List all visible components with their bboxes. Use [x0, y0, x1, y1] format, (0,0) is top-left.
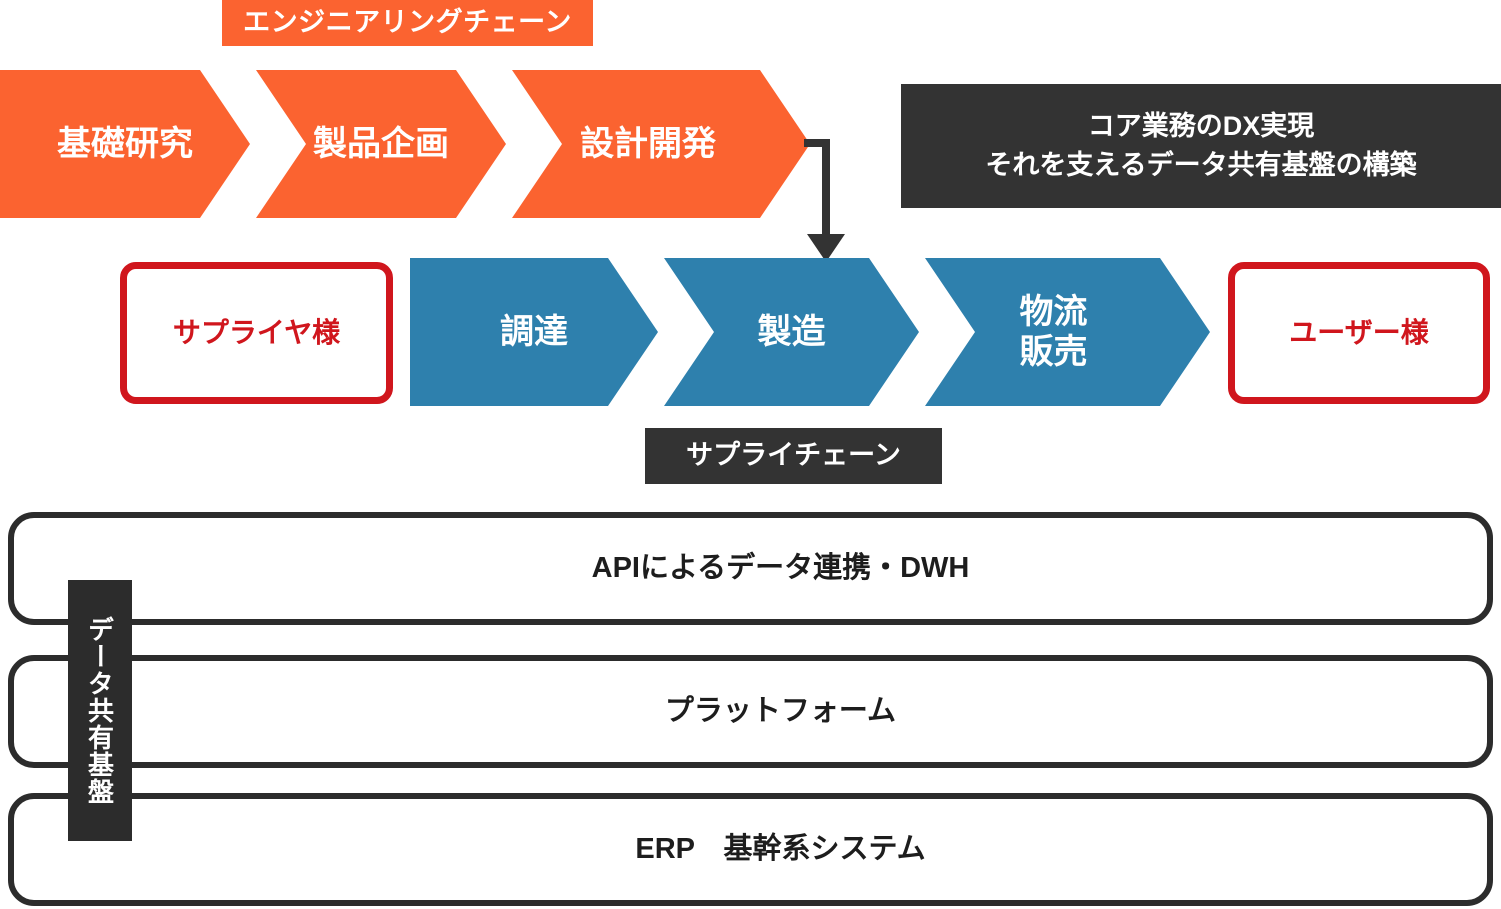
data-foundation-vertical-label: データ共有基盤	[68, 580, 132, 841]
callout-line-1: コア業務のDX実現	[1088, 107, 1315, 146]
user-endpoint-box[interactable]: ユーザー様	[1228, 262, 1490, 404]
supply-step-2-label: 製造	[758, 312, 826, 352]
callout-line-2: それを支えるデータ共有基盤の構築	[985, 146, 1416, 185]
foundation-layer-erp[interactable]: ERP 基幹系システム	[8, 793, 1493, 906]
engineering-step-2[interactable]: 製品企画	[256, 70, 506, 218]
engineering-step-1[interactable]: 基礎研究	[0, 70, 250, 218]
supply-step-1[interactable]: 調達	[410, 258, 658, 406]
engineering-step-3-label: 設計開発	[580, 124, 716, 164]
diagram-canvas: エンジニアリングチェーン 基礎研究 製品企画 設計開発 コア業務のDX実現 それ…	[0, 0, 1501, 909]
foundation-layer-platform[interactable]: プラットフォーム	[8, 655, 1493, 768]
engineering-chain-flow: 基礎研究 製品企画 設計開発	[0, 70, 810, 218]
supply-step-3-label-line2: 販売	[1020, 332, 1088, 372]
engineering-chain-tab: エンジニアリングチェーン	[222, 0, 593, 46]
core-dx-callout: コア業務のDX実現 それを支えるデータ共有基盤の構築	[901, 84, 1501, 208]
supplier-endpoint-label: サプライヤ様	[173, 316, 340, 349]
engineering-step-1-label: 基礎研究	[57, 124, 193, 164]
supply-step-3-label-line1: 物流	[1020, 292, 1088, 332]
supplier-endpoint-box[interactable]: サプライヤ様	[120, 262, 393, 404]
supply-step-2[interactable]: 製造	[664, 258, 919, 406]
foundation-layer-platform-label: プラットフォーム	[605, 694, 896, 728]
foundation-layer-erp-label: ERP 基幹系システム	[575, 832, 925, 866]
foundation-layer-api-label: APIによるデータ連携・DWH	[532, 551, 970, 585]
engineering-step-3[interactable]: 設計開発	[512, 70, 810, 218]
user-endpoint-label: ユーザー様	[1289, 316, 1428, 349]
supply-chain-tab: サプライチェーン	[645, 428, 942, 484]
supply-chain-flow: 調達 製造 物流 販売	[410, 258, 1210, 406]
supply-step-1-label: 調達	[500, 312, 568, 352]
design-to-manufacturing-arrow	[800, 136, 870, 266]
supply-step-3[interactable]: 物流 販売	[925, 258, 1210, 406]
engineering-step-2-label: 製品企画	[313, 124, 449, 164]
foundation-layer-api[interactable]: APIによるデータ連携・DWH	[8, 512, 1493, 625]
